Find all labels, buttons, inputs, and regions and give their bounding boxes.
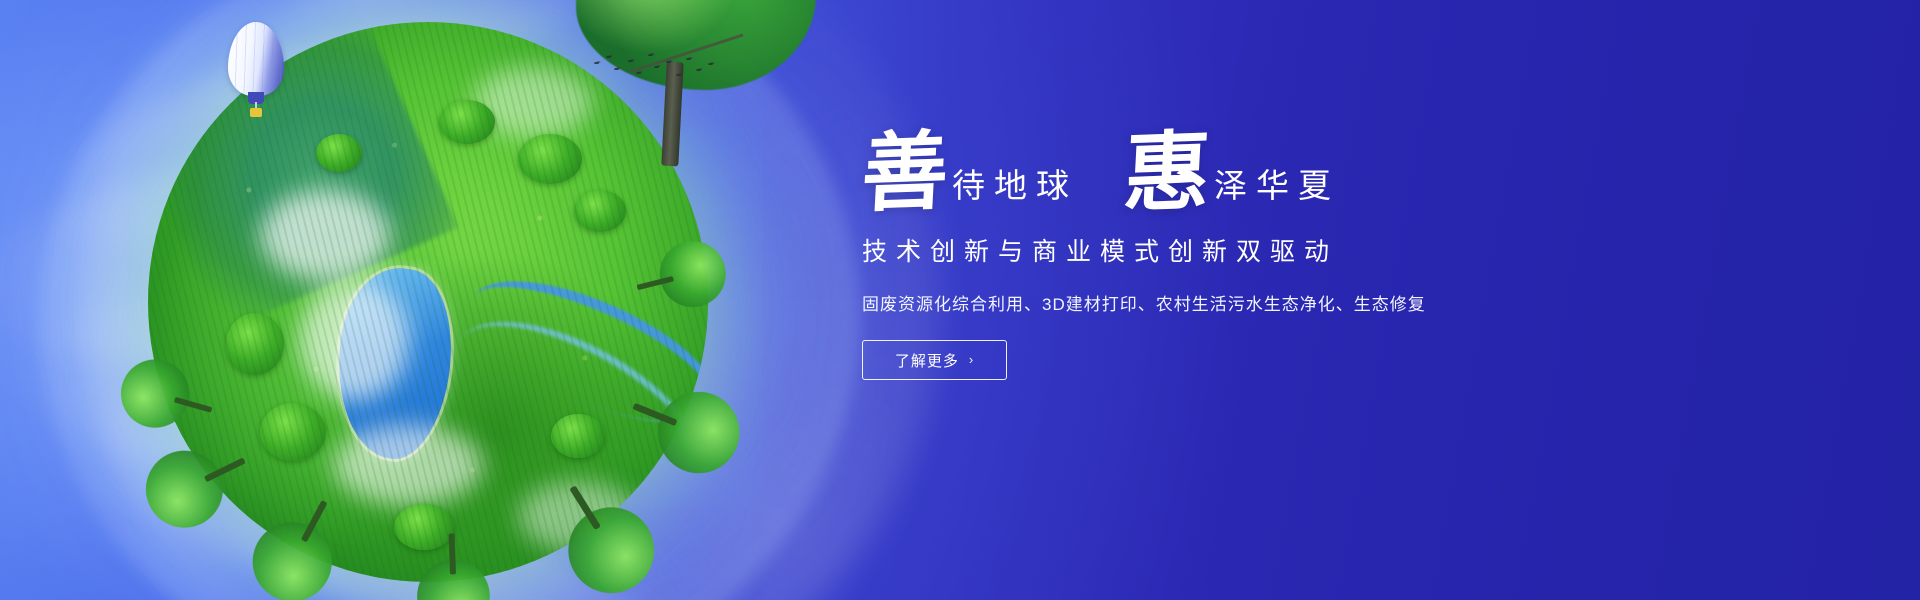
bush <box>226 313 284 375</box>
hero-banner: 善 待地球 惠 泽华夏 技术创新与商业模式创新双驱动 固废资源化综合利用、3D建… <box>0 0 1920 600</box>
learn-more-label: 了解更多 <box>895 350 959 371</box>
bird-icon <box>654 66 659 68</box>
bird-flock-icon <box>590 52 720 92</box>
bird-icon <box>676 74 681 76</box>
bush <box>551 414 605 458</box>
balloon-basket <box>250 108 262 117</box>
page-title: 善 待地球 惠 泽华夏 <box>862 120 1562 212</box>
headline-brush-char-2: 惠 <box>1122 131 1212 213</box>
learn-more-button[interactable]: 了解更多 › <box>862 340 1007 380</box>
mountain-ridge <box>148 22 458 332</box>
rim-tree <box>415 532 491 600</box>
balloon-envelope <box>228 22 284 96</box>
bird-icon <box>648 54 653 56</box>
bird-icon <box>696 69 701 71</box>
tree-crown <box>133 438 236 541</box>
bush <box>316 134 362 172</box>
mist-cloud <box>260 190 390 280</box>
chevron-right-icon: › <box>969 352 974 367</box>
bird-icon <box>636 72 641 74</box>
bird-icon <box>606 56 611 58</box>
headline-brush-char-1: 善 <box>860 131 950 213</box>
bird-icon <box>614 68 619 70</box>
hero-content: 善 待地球 惠 泽华夏 技术创新与商业模式创新双驱动 固废资源化综合利用、3D建… <box>862 120 1562 380</box>
bird-icon <box>628 60 633 62</box>
mist-cloud <box>333 425 483 505</box>
hot-air-balloon-icon <box>228 22 284 126</box>
mist-cloud <box>299 280 409 400</box>
headline-rest-1: 待地球 <box>952 169 1078 212</box>
bird-icon <box>686 58 691 60</box>
description: 固废资源化综合利用、3D建材打印、农村生活污水生态净化、生态修复 <box>862 290 1562 315</box>
lake-shape <box>326 262 463 466</box>
bush <box>439 100 495 144</box>
bird-icon <box>594 62 599 64</box>
tree-trunk <box>449 533 456 574</box>
bird-icon <box>708 63 713 65</box>
big-tree <box>556 0 816 202</box>
subtitle: 技术创新与商业模式创新双驱动 <box>862 232 1562 268</box>
bush <box>260 403 326 461</box>
headline-rest-2: 泽华夏 <box>1214 169 1340 212</box>
bird-icon <box>666 61 671 63</box>
